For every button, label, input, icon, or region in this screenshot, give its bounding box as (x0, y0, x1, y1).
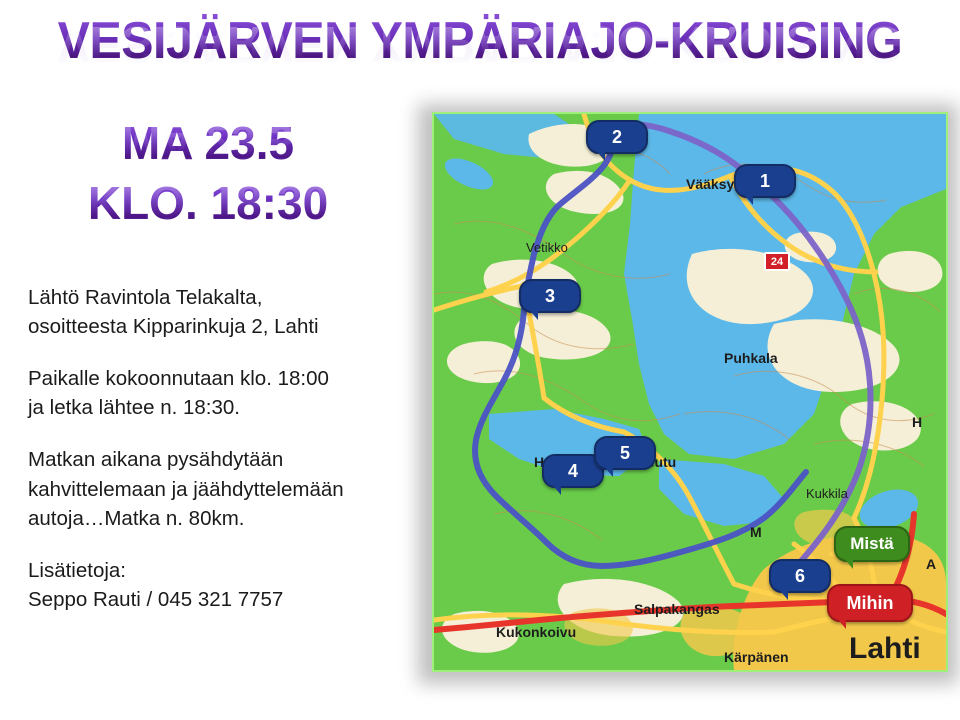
map-label-salpakangas: Salpakangas (634, 601, 720, 617)
map-label-partial-h: H (912, 414, 922, 430)
paragraph-gathering-time: Paikalle kokoonnutaan klo. 18:00 ja letk… (28, 364, 428, 422)
map-label-partial-m: M (750, 524, 762, 540)
map-label-vetikko: Vetikko (526, 240, 568, 255)
map-marker-start[interactable]: Mistä (834, 526, 910, 562)
info-text-block: Lähtö Ravintola Telakalta, osoitteesta K… (28, 283, 428, 614)
map-marker-5[interactable]: 5 (594, 436, 656, 470)
map-marker-1[interactable]: 1 (734, 164, 796, 198)
route-map[interactable]: Vääksy Vetikko Puhkala Kukkila Kukonkoiv… (432, 112, 948, 672)
map-label-partial-a: A (926, 556, 936, 572)
map-label-lahti: Lahti (849, 632, 921, 666)
map-marker-end-label: Mihin (827, 584, 913, 622)
map-label-kukkila: Kukkila (806, 486, 848, 501)
map-label-vaaksy: Vääksy (686, 176, 734, 192)
map-marker-2-label: 2 (586, 120, 648, 154)
map-marker-start-label: Mistä (834, 526, 910, 562)
map-marker-1-label: 1 (734, 164, 796, 198)
map-label-puhkala: Puhkala (724, 350, 778, 366)
highway-shield-24: 24 (764, 252, 790, 271)
map-marker-3[interactable]: 3 (519, 279, 581, 313)
page-title-reflection: VESIJÄRVEN YMPÄRIAJO-KRUISING (34, 16, 927, 71)
map-marker-5-label: 5 (594, 436, 656, 470)
event-date-reflection: MA 23.5 (8, 118, 408, 164)
map-label-karpanen: Kärpänen (724, 649, 789, 665)
event-time-reflection: KLO. 18:30 (8, 178, 408, 224)
poster-canvas: VESIJÄRVEN YMPÄRIAJO-KRUISING VESIJÄRVEN… (0, 0, 960, 720)
map-marker-end[interactable]: Mihin (827, 584, 913, 622)
map-marker-2[interactable]: 2 (586, 120, 648, 154)
map-marker-6-label: 6 (769, 559, 831, 593)
map-marker-3-label: 3 (519, 279, 581, 313)
paragraph-start-location: Lähtö Ravintola Telakalta, osoitteesta K… (28, 283, 428, 341)
map-marker-6[interactable]: 6 (769, 559, 831, 593)
paragraph-route-info: Matkan aikana pysähdytään kahvittelemaan… (28, 445, 428, 532)
paragraph-contact: Lisätietoja: Seppo Rauti / 045 321 7757 (28, 556, 428, 614)
map-label-kukonkoivu: Kukonkoivu (496, 624, 576, 640)
